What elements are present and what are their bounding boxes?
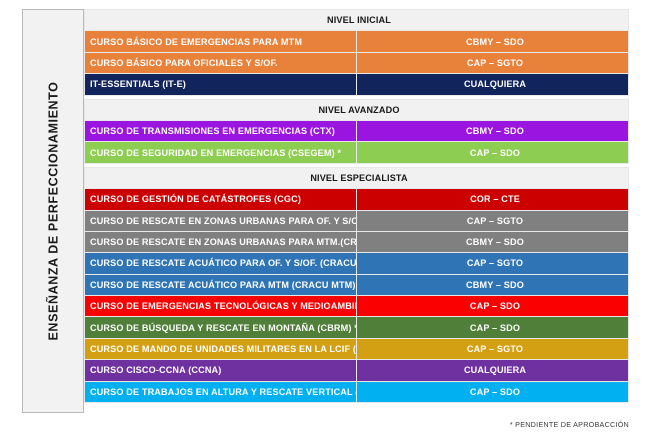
course-name-cell: CURSO BÁSICO PARA OFICIALES Y S/OF. <box>85 52 357 73</box>
table-row[interactable]: CURSO DE TRANSMISIONES EN EMERGENCIAS (C… <box>85 120 629 141</box>
table-row[interactable]: CURSO CISCO-CCNA (CCNA)CUALQUIERA <box>85 360 629 381</box>
course-name-cell: CURSO BÁSICO DE EMERGENCIAS PARA MTM <box>85 31 357 52</box>
rank-range-cell: CUALQUIERA <box>357 360 629 381</box>
table-row[interactable]: CURSO BÁSICO PARA OFICIALES Y S/OF.CAP –… <box>85 52 629 73</box>
table-row[interactable]: CURSO DE TRABAJOS EN ALTURA Y RESCATE VE… <box>85 381 629 402</box>
course-name-cell: CURSO DE RESCATE ACUÁTICO PARA OF. Y S/O… <box>85 253 357 274</box>
course-name-cell: CURSO DE GESTIÓN DE CATÁSTROFES (CGC) <box>85 189 357 210</box>
courses-table-wrapper: NIVEL INICIALCURSO BÁSICO DE EMERGENCIAS… <box>84 9 629 413</box>
rank-range-cell: CAP – SGTO <box>357 210 629 231</box>
course-name-cell: CURSO DE TRABAJOS EN ALTURA Y RESCATE VE… <box>85 381 357 402</box>
rank-range-cell: CAP – SDO <box>357 317 629 338</box>
rank-range-cell: CBMY – SDO <box>357 274 629 295</box>
course-name-cell: CURSO DE EMERGENCIAS TECNOLÓGICAS Y MEDI… <box>85 296 357 317</box>
section-header-row: NIVEL AVANZADO <box>85 99 629 120</box>
section-title: NIVEL ESPECIALISTA <box>85 167 629 188</box>
section-header-row: NIVEL ESPECIALISTA <box>85 167 629 188</box>
table-row[interactable]: CURSO DE RESCATE ACUÁTICO PARA MTM (CRAC… <box>85 274 629 295</box>
table-row[interactable]: CURSO DE BÚSQUEDA Y RESCATE EN MONTAÑA (… <box>85 317 629 338</box>
table-row[interactable]: CURSO DE SEGURIDAD EN EMERGENCIAS (CSEGE… <box>85 142 629 163</box>
section-header-row: NIVEL INICIAL <box>85 10 629 31</box>
rank-range-cell: CAP – SDO <box>357 142 629 163</box>
table-row[interactable]: CURSO DE GESTIÓN DE CATÁSTROFES (CGC)COR… <box>85 189 629 210</box>
rank-range-cell: CAP – SGTO <box>357 253 629 274</box>
course-name-cell: CURSO DE RESCATE EN ZONAS URBANAS PARA M… <box>85 231 357 252</box>
table-row[interactable]: CURSO DE RESCATE ACUÁTICO PARA OF. Y S/O… <box>85 253 629 274</box>
rank-range-cell: CAP – SDO <box>357 381 629 402</box>
table-row[interactable]: IT-ESSENTIALS (IT-E)CUALQUIERA <box>85 74 629 95</box>
table-row[interactable]: CURSO DE EMERGENCIAS TECNOLÓGICAS Y MEDI… <box>85 296 629 317</box>
course-name-cell: CURSO DE MANDO DE UNIDADES MILITARES EN … <box>85 338 357 359</box>
course-name-cell: CURSO DE RESCATE ACUÁTICO PARA MTM (CRAC… <box>85 274 357 295</box>
rank-range-cell: CBMY – SDO <box>357 120 629 141</box>
vertical-axis-label: ENSEÑANZA DE PERFECCIONAMIENTO <box>46 82 60 341</box>
section-title: NIVEL AVANZADO <box>85 99 629 120</box>
table-row[interactable]: CURSO DE MANDO DE UNIDADES MILITARES EN … <box>85 338 629 359</box>
course-name-cell: CURSO CISCO-CCNA (CCNA) <box>85 360 357 381</box>
table-row[interactable]: CURSO BÁSICO DE EMERGENCIAS PARA MTMCBMY… <box>85 31 629 52</box>
section-title: NIVEL INICIAL <box>85 10 629 31</box>
vertical-axis-label-box: ENSEÑANZA DE PERFECCIONAMIENTO <box>22 9 84 413</box>
courses-table: NIVEL INICIALCURSO BÁSICO DE EMERGENCIAS… <box>84 9 629 403</box>
rank-range-cell: CAP – SGTO <box>357 52 629 73</box>
rank-range-cell: CUALQUIERA <box>357 74 629 95</box>
rank-range-cell: CAP – SDO <box>357 296 629 317</box>
course-name-cell: CURSO DE BÚSQUEDA Y RESCATE EN MONTAÑA (… <box>85 317 357 338</box>
rank-range-cell: CAP – SGTO <box>357 338 629 359</box>
footnote-text: * PENDIENTE DE APROBACCIÓN <box>510 420 629 429</box>
course-name-cell: CURSO DE TRANSMISIONES EN EMERGENCIAS (C… <box>85 120 357 141</box>
training-levels-chart: ENSEÑANZA DE PERFECCIONAMIENTO NIVEL INI… <box>0 0 650 438</box>
course-name-cell: IT-ESSENTIALS (IT-E) <box>85 74 357 95</box>
table-row[interactable]: CURSO DE RESCATE EN ZONAS URBANAS PARA M… <box>85 231 629 252</box>
rank-range-cell: CBMY – SDO <box>357 231 629 252</box>
rank-range-cell: COR – CTE <box>357 189 629 210</box>
table-row[interactable]: CURSO DE RESCATE EN ZONAS URBANAS PARA O… <box>85 210 629 231</box>
course-name-cell: CURSO DE SEGURIDAD EN EMERGENCIAS (CSEGE… <box>85 142 357 163</box>
rank-range-cell: CBMY – SDO <box>357 31 629 52</box>
course-name-cell: CURSO DE RESCATE EN ZONAS URBANAS PARA O… <box>85 210 357 231</box>
